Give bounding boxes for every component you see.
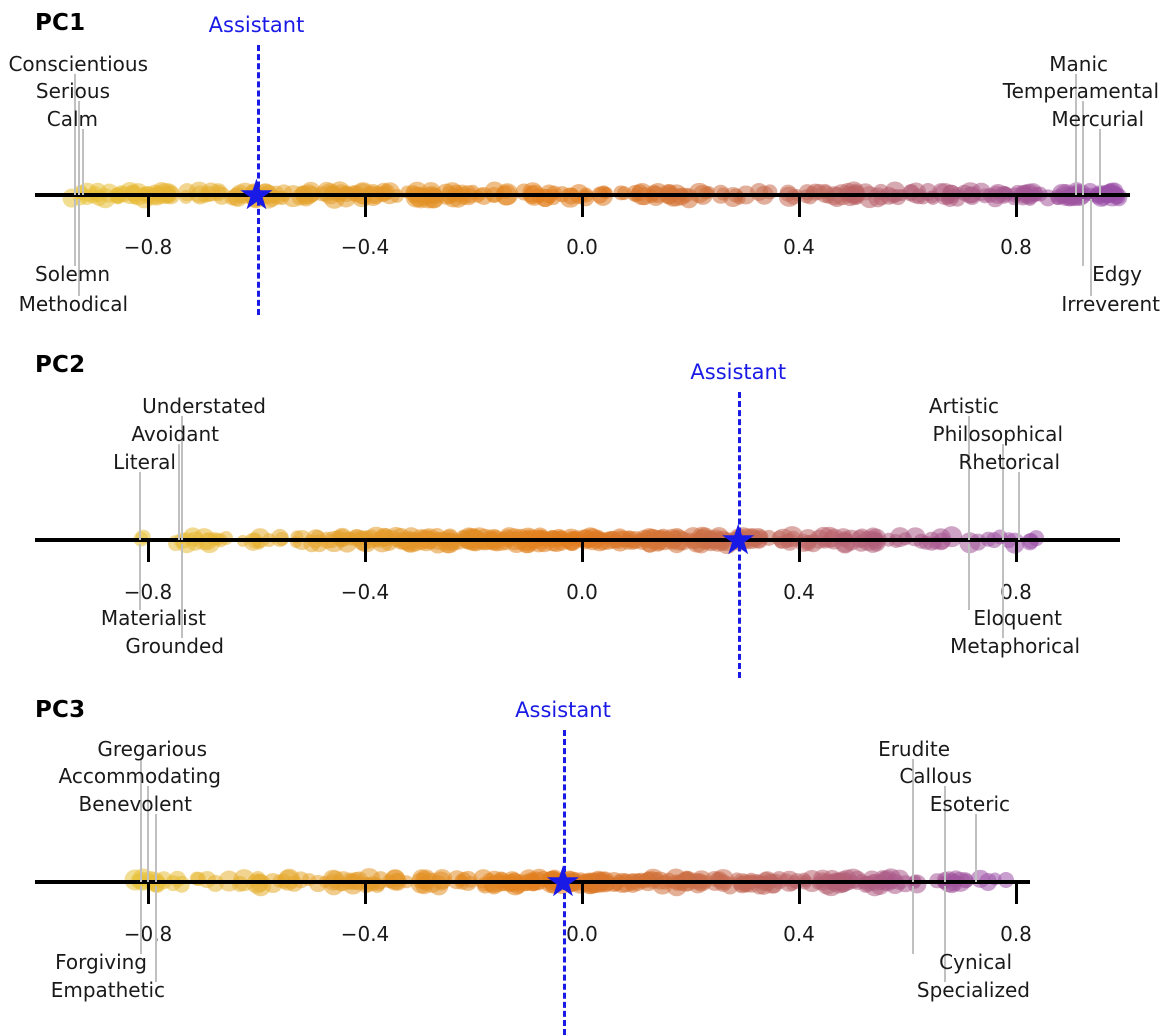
pole-label-negative: Benevolent — [79, 792, 192, 816]
assistant-star-marker: ★ — [544, 861, 582, 903]
pole-label-positive: Cynical — [939, 950, 1012, 974]
pole-label-positive: Erudite — [878, 737, 950, 761]
x-tick-label: 0.0 — [566, 922, 598, 946]
pole-label-positive: Specialized — [917, 978, 1030, 1002]
leader-line — [155, 814, 157, 882]
x-tick-label: −0.4 — [341, 922, 390, 946]
data-point — [750, 875, 769, 894]
panel-title-pc3: PC3 — [35, 697, 85, 723]
leader-line — [155, 886, 157, 982]
pole-label-negative: Accommodating — [59, 764, 221, 788]
leader-line — [975, 814, 977, 882]
x-tick — [798, 884, 801, 904]
x-tick — [364, 884, 367, 904]
assistant-label: Assistant — [515, 698, 611, 722]
pole-label-positive: Esoteric — [930, 792, 1010, 816]
pc-panel-3: PC3−0.8−0.40.00.40.8GregariousAccommodat… — [0, 0, 1173, 1035]
leader-line — [140, 886, 142, 954]
pole-label-positive: Callous — [899, 764, 972, 788]
pole-label-negative: Forgiving — [55, 950, 147, 974]
x-tick-label: 0.8 — [1000, 922, 1032, 946]
pole-label-negative: Empathetic — [51, 978, 165, 1002]
x-tick-label: −0.8 — [124, 922, 173, 946]
x-tick — [147, 884, 150, 904]
x-tick-label: 0.4 — [783, 922, 815, 946]
x-axis-pc3 — [35, 880, 1030, 884]
x-tick — [1015, 884, 1018, 904]
pole-label-negative: Gregarious — [97, 737, 207, 761]
leader-line — [912, 886, 914, 954]
